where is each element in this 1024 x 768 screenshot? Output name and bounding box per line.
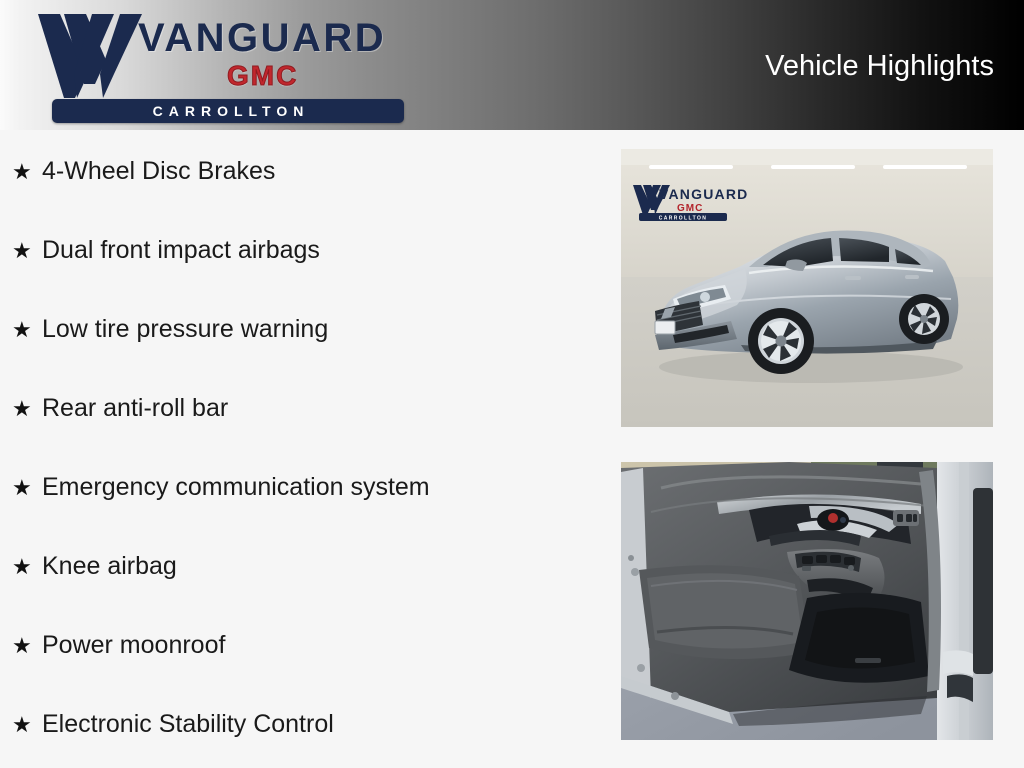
logo-location-label: CARROLLTON (52, 99, 404, 123)
feature-label: Power moonroof (42, 631, 600, 660)
star-icon: ★ (12, 477, 42, 499)
page-title: Vehicle Highlights (765, 50, 994, 83)
vehicle-photo-exterior[interactable]: VANGUARD GMC CARROLLTON (621, 149, 993, 427)
page-header: VANGUARD GMC CARROLLTON Vehicle Highligh… (0, 0, 1024, 130)
star-icon: ★ (12, 398, 42, 420)
star-icon: ★ (12, 556, 42, 578)
star-icon: ★ (12, 240, 42, 262)
list-item: ★ Emergency communication system (0, 448, 600, 527)
dealer-logo: VANGUARD GMC CARROLLTON (22, 8, 402, 124)
svg-text:CARROLLTON: CARROLLTON (659, 216, 708, 222)
svg-text:GMC: GMC (677, 203, 703, 214)
list-item: ★ Low tire pressure warning (0, 290, 600, 369)
list-item: ★ Electronic Stability Control (0, 685, 600, 764)
feature-label: Emergency communication system (42, 473, 600, 502)
feature-label: Low tire pressure warning (42, 315, 600, 344)
logo-gmc-brand: GMC (227, 62, 298, 90)
logo-wordmark: VANGUARD (138, 18, 386, 58)
feature-label: Dual front impact airbags (42, 236, 600, 265)
feature-label: Electronic Stability Control (42, 710, 600, 739)
vanguard-v-mark-icon (34, 12, 146, 98)
vehicle-photo-interior[interactable] (621, 462, 993, 740)
list-item: ★ Dual front impact airbags (0, 211, 600, 290)
feature-label: Rear anti-roll bar (42, 394, 600, 423)
svg-text:VANGUARD: VANGUARD (659, 186, 748, 202)
star-icon: ★ (12, 635, 42, 657)
star-icon: ★ (12, 161, 42, 183)
star-icon: ★ (12, 714, 42, 736)
list-item: ★ Knee airbag (0, 527, 600, 606)
vehicle-highlights-slide: VANGUARD GMC CARROLLTON Vehicle Highligh… (0, 0, 1024, 768)
feature-label: 4-Wheel Disc Brakes (42, 157, 600, 186)
star-icon: ★ (12, 319, 42, 341)
list-item: ★ 4-Wheel Disc Brakes (0, 132, 600, 211)
logo-location-bar: CARROLLTON (52, 99, 404, 123)
list-item: ★ Power moonroof (0, 606, 600, 685)
list-item: ★ Rear anti-roll bar (0, 369, 600, 448)
vehicle-features-list: ★ 4-Wheel Disc Brakes ★ Dual front impac… (0, 132, 600, 768)
feature-label: Knee airbag (42, 552, 600, 581)
